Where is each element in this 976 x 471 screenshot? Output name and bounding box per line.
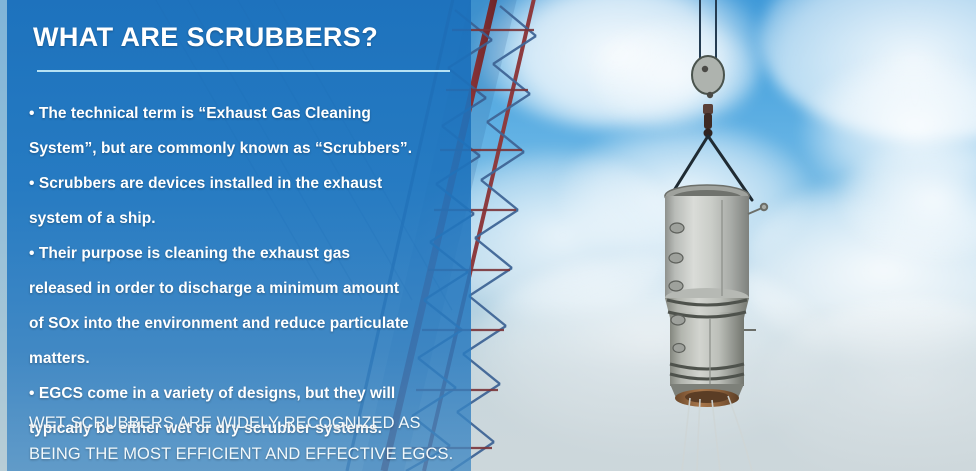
hook-block bbox=[692, 56, 724, 138]
list-item: of SOx into the environment and reduce p… bbox=[29, 306, 461, 341]
list-item: System”, but are commonly known as “Scru… bbox=[29, 131, 461, 166]
bullet-list: • The technical term is “Exhaust Gas Cle… bbox=[29, 96, 461, 446]
info-panel: WHAT ARE SCRUBBERS? • The technical term… bbox=[7, 0, 471, 471]
list-item: • Scrubbers are devices installed in the… bbox=[29, 166, 461, 201]
scrubber-vessel bbox=[665, 185, 767, 407]
list-item: released in order to discharge a minimum… bbox=[29, 271, 461, 306]
summary-line: WET SCRUBBERS ARE WIDELY RECOGNIZED AS bbox=[29, 408, 469, 439]
title-underline bbox=[37, 70, 450, 72]
list-item: • Their purpose is cleaning the exhaust … bbox=[29, 236, 461, 271]
page-title: WHAT ARE SCRUBBERS? bbox=[33, 22, 378, 53]
panel-left-sliver bbox=[0, 0, 7, 471]
list-item: matters. bbox=[29, 341, 461, 376]
tag-lines bbox=[682, 396, 752, 471]
slide-canvas: WHAT ARE SCRUBBERS? • The technical term… bbox=[0, 0, 976, 471]
hoist-cables bbox=[700, 0, 716, 58]
list-item: • EGCS come in a variety of designs, but… bbox=[29, 376, 461, 411]
summary-statement: WET SCRUBBERS ARE WIDELY RECOGNIZED AS B… bbox=[29, 408, 469, 470]
list-item: system of a ship. bbox=[29, 201, 461, 236]
list-item: • The technical term is “Exhaust Gas Cle… bbox=[29, 96, 461, 131]
summary-line: BEING THE MOST EFFICIENT AND EFFECTIVE E… bbox=[29, 439, 469, 470]
